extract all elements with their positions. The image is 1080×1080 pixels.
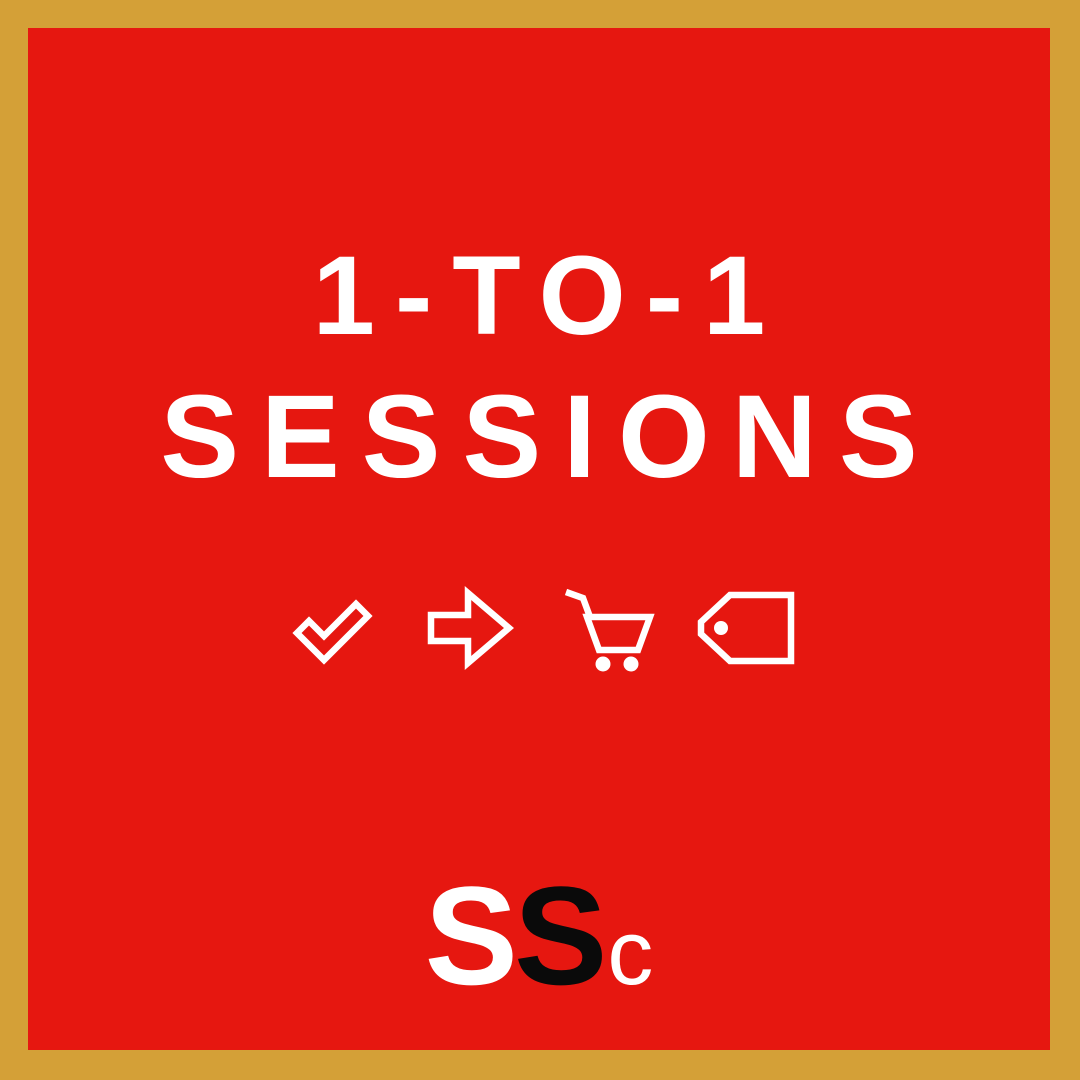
headline-line-2: SESSIONS [28, 378, 1050, 496]
red-panel: 1-TO-1 SESSIONS [28, 28, 1050, 1050]
headline-block: 1-TO-1 SESSIONS [28, 240, 1050, 496]
price-tag-icon [696, 580, 796, 676]
logo-letter-s-primary: S [425, 857, 514, 1014]
brand-logo: SSc [28, 866, 1050, 1006]
promo-card: 1-TO-1 SESSIONS [0, 0, 1080, 1080]
icon-row [282, 580, 796, 676]
logo-letter-s-secondary: S [514, 857, 603, 1014]
logo-letter-c: c [607, 902, 653, 1004]
arrow-right-icon [420, 580, 520, 676]
headline-line-1: 1-TO-1 [28, 240, 1050, 352]
shopping-cart-icon [558, 580, 658, 676]
check-icon [282, 580, 382, 676]
